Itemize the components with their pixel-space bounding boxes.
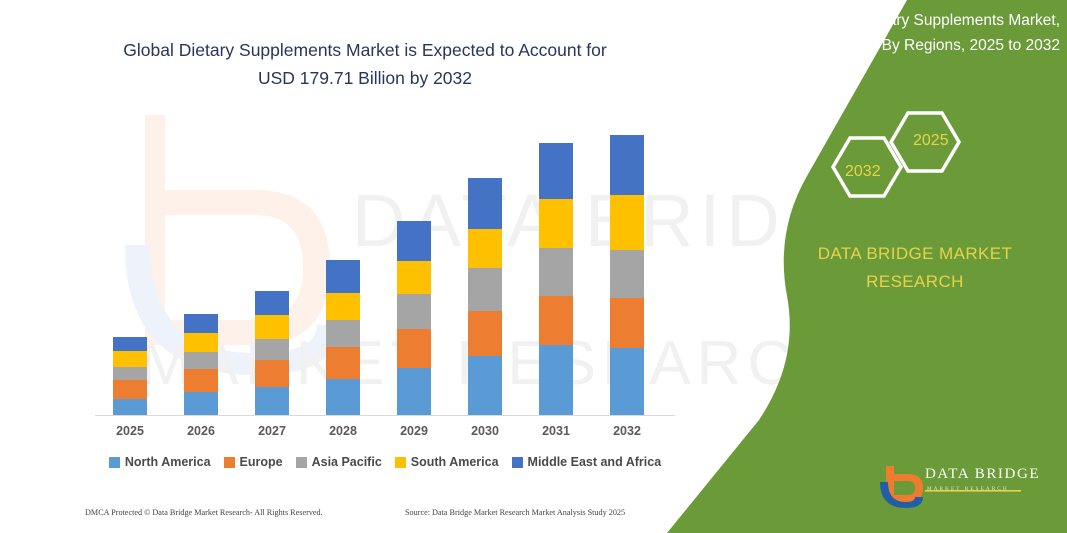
bar-segment-middle-east-and-africa — [326, 260, 360, 292]
bar-2027 — [255, 291, 289, 415]
bar-segment-europe — [397, 329, 431, 368]
legend-label: South America — [411, 455, 499, 469]
bar-segment-north-america — [468, 356, 502, 415]
x-axis-label-2030: 2030 — [449, 424, 521, 438]
bar-segment-middle-east-and-africa — [468, 178, 502, 229]
bar-2028 — [326, 260, 360, 415]
bar-segment-south-america — [610, 195, 644, 250]
brand-name: DATA BRIDGE MARKET RESEARCH — [785, 240, 1045, 296]
x-axis-label-2025: 2025 — [94, 424, 166, 438]
bar-segment-europe — [468, 311, 502, 356]
legend-swatch-icon — [512, 457, 523, 468]
logo-title: DATA BRIDGE — [925, 466, 1040, 483]
bar-segment-middle-east-and-africa — [397, 221, 431, 261]
footer: DMCA Protected © Data Bridge Market Rese… — [85, 508, 685, 517]
bar-segment-asia-pacific — [468, 268, 502, 311]
bar-segment-asia-pacific — [184, 352, 218, 369]
footer-dmca-text: DMCA Protected © Data Bridge Market Rese… — [85, 508, 405, 517]
bar-segment-europe — [184, 369, 218, 392]
chart-title: Global Dietary Supplements Market is Exp… — [60, 36, 670, 92]
legend-item-europe[interactable]: Europe — [224, 455, 283, 469]
bar-segment-south-america — [397, 261, 431, 294]
bar-segment-north-america — [610, 348, 644, 415]
bar-segment-south-america — [255, 315, 289, 338]
legend-label: Europe — [240, 455, 283, 469]
chart-title-line-2: USD 179.71 Billion by 2032 — [60, 64, 670, 92]
x-axis-label-2029: 2029 — [378, 424, 450, 438]
logo-subtitle: MARKET RESEARCH — [927, 486, 1009, 492]
hex-label-2032: 2032 — [845, 163, 881, 181]
chart-legend: North AmericaEuropeAsia PacificSouth Ame… — [95, 455, 675, 469]
legend-swatch-icon — [224, 457, 235, 468]
legend-label: Asia Pacific — [312, 455, 382, 469]
bar-2026 — [184, 314, 218, 415]
bar-segment-north-america — [184, 392, 218, 415]
bar-2030 — [468, 178, 502, 415]
bar-2032 — [610, 135, 644, 415]
x-axis-label-2026: 2026 — [165, 424, 237, 438]
bar-2025 — [113, 337, 147, 415]
bar-segment-middle-east-and-africa — [255, 291, 289, 316]
x-axis-label-2031: 2031 — [520, 424, 592, 438]
data-bridge-logo: DATA BRIDGE MARKET RESEARCH — [878, 462, 1058, 512]
legend-label: Middle East and Africa — [528, 455, 662, 469]
bar-segment-south-america — [184, 333, 218, 353]
legend-item-asia-pacific[interactable]: Asia Pacific — [296, 455, 382, 469]
bar-segment-asia-pacific — [539, 248, 573, 296]
legend-item-middle-east-and-africa[interactable]: Middle East and Africa — [512, 455, 662, 469]
bar-2031 — [539, 143, 573, 415]
bar-segment-middle-east-and-africa — [539, 143, 573, 199]
legend-swatch-icon — [109, 457, 120, 468]
bar-segment-asia-pacific — [255, 339, 289, 360]
bar-segment-north-america — [113, 399, 147, 415]
bar-segment-asia-pacific — [326, 320, 360, 347]
bar-segment-north-america — [539, 345, 573, 415]
bar-segment-north-america — [255, 387, 289, 415]
legend-label: North America — [125, 455, 211, 469]
footer-source-text: Source: Data Bridge Market Research Mark… — [405, 508, 625, 517]
bar-segment-north-america — [397, 368, 431, 415]
x-axis-label-2027: 2027 — [236, 424, 308, 438]
legend-swatch-icon — [395, 457, 406, 468]
bar-segment-asia-pacific — [610, 250, 644, 298]
panel-title-line-2: By Regions, 2025 to 2032 — [740, 33, 1060, 58]
brand-name-line-2: RESEARCH — [785, 268, 1045, 296]
brand-name-line-1: DATA BRIDGE MARKET — [785, 240, 1045, 268]
bar-segment-europe — [610, 298, 644, 348]
x-axis-label-2032: 2032 — [591, 424, 663, 438]
legend-item-south-america[interactable]: South America — [395, 455, 499, 469]
hex-label-2025: 2025 — [913, 132, 949, 150]
bar-segment-europe — [539, 296, 573, 345]
bar-segment-south-america — [113, 351, 147, 367]
bar-segment-middle-east-and-africa — [113, 337, 147, 351]
bar-segment-south-america — [468, 229, 502, 269]
bar-segment-europe — [255, 360, 289, 387]
bar-segment-south-america — [326, 293, 360, 320]
bar-segment-europe — [326, 347, 360, 379]
x-axis-line — [95, 415, 675, 416]
legend-swatch-icon — [296, 457, 307, 468]
x-axis-labels: 20252026202720282029203020312032 — [95, 424, 675, 444]
legend-item-north-america[interactable]: North America — [109, 455, 211, 469]
bar-segment-south-america — [539, 199, 573, 249]
bar-segment-europe — [113, 380, 147, 399]
bar-segment-asia-pacific — [113, 367, 147, 380]
bar-segment-middle-east-and-africa — [610, 135, 644, 195]
bar-segment-asia-pacific — [397, 294, 431, 329]
bar-segment-north-america — [326, 379, 360, 415]
panel-title-line-1: Global Dietary Supplements Market, — [740, 8, 1060, 33]
bar-2029 — [397, 221, 431, 415]
x-axis-label-2028: 2028 — [307, 424, 379, 438]
bar-segment-middle-east-and-africa — [184, 314, 218, 333]
infographic-canvas: DATA BRIDGE MARKET RESEARCH Global Dieta… — [0, 0, 1067, 533]
chart-plot-area — [95, 110, 675, 416]
panel-title: Global Dietary Supplements Market, By Re… — [740, 8, 1060, 58]
chart-title-line-1: Global Dietary Supplements Market is Exp… — [60, 36, 670, 64]
